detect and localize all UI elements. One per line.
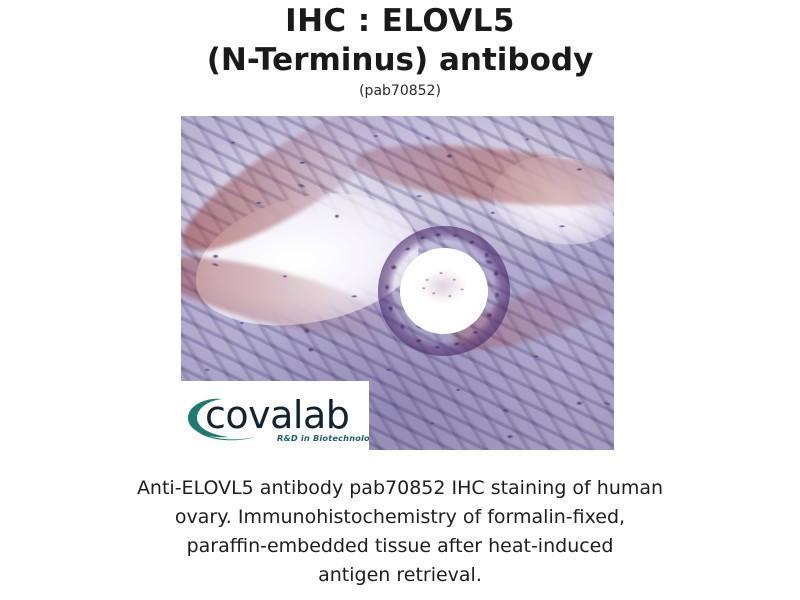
caption-line-4: antigen retrieval. bbox=[70, 561, 730, 590]
page-title: IHC : ELOVL5 (N-Terminus) antibody (pab7… bbox=[0, 2, 800, 100]
title-line-2: (N-Terminus) antibody bbox=[0, 41, 800, 80]
title-line-1: IHC : ELOVL5 bbox=[0, 2, 800, 41]
covalab-wordmark: covalab bbox=[205, 393, 349, 437]
covalab-logo-svg: covalab R&D in Biotechnology bbox=[181, 381, 369, 450]
figure-caption: Anti-ELOVL5 antibody pab70852 IHC staini… bbox=[70, 474, 730, 590]
covalab-watermark: covalab R&D in Biotechnology bbox=[181, 381, 369, 450]
catalog-number: (pab70852) bbox=[0, 82, 800, 100]
caption-line-2: ovary. Immunohistochemistry of formalin-… bbox=[70, 503, 730, 532]
caption-line-3: paraffin-embedded tissue after heat-indu… bbox=[70, 532, 730, 561]
ihc-micrograph-image: covalab R&D in Biotechnology bbox=[181, 116, 614, 450]
covalab-tagline: R&D in Biotechnology bbox=[277, 433, 369, 443]
figure-page: IHC : ELOVL5 (N-Terminus) antibody (pab7… bbox=[0, 0, 800, 600]
caption-line-1: Anti-ELOVL5 antibody pab70852 IHC staini… bbox=[70, 474, 730, 503]
central-follicle-structure bbox=[372, 220, 517, 363]
